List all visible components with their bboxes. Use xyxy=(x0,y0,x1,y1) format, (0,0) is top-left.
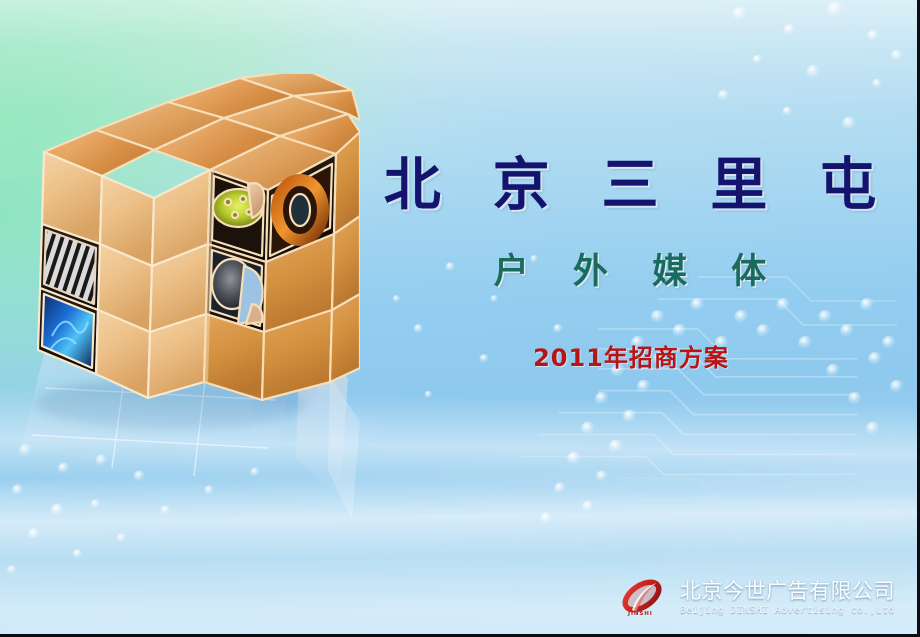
jinshi-wordmark: JINSHI xyxy=(628,611,653,617)
title-block: 北 京 三 里 屯 户 外 媒 体 2011年招商方案 xyxy=(366,155,896,373)
jinshi-swoosh-logo: JINSHI xyxy=(614,578,670,618)
footer-logo: JINSHI 北京今世广告有限公司 Beijing JINSHI Adverti… xyxy=(614,578,895,618)
sub-title: 户 外 媒 体 xyxy=(366,243,896,294)
company-name-en: Beijing JINSHI Advertising co.,Ltd xyxy=(680,606,895,616)
rubiks-cube-image xyxy=(0,74,360,574)
company-name-cn: 北京今世广告有限公司 xyxy=(680,581,895,602)
presentation-slide: 北 京 三 里 屯 户 外 媒 体 2011年招商方案 xyxy=(0,0,920,637)
third-title: 2011年招商方案 xyxy=(366,338,896,373)
company-text-block: 北京今世广告有限公司 Beijing JINSHI Advertising co… xyxy=(680,581,895,616)
main-title: 北 京 三 里 屯 xyxy=(366,155,896,217)
